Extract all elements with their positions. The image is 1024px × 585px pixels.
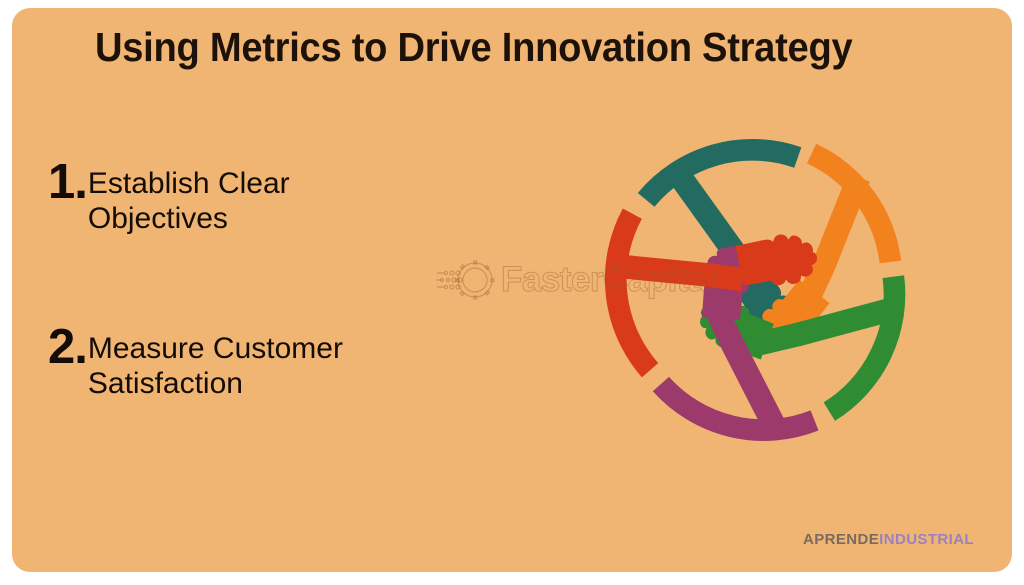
teamwork-wheel-illustration [590, 116, 915, 461]
list-item-label: Establish Clear Objectives [87, 158, 418, 237]
list-item-number: 2. [48, 323, 87, 370]
list-item: 2. Measure Customer Satisfaction [48, 323, 498, 402]
slide-canvas: Using Metrics to Drive Innovation Strate… [12, 8, 1012, 572]
list-item-label: Measure Customer Satisfaction [87, 323, 418, 402]
brand-logo: APRENDEINDUSTRIAL [803, 531, 974, 548]
brand-name-second: INDUSTRIAL [879, 531, 974, 548]
page-title: Using Metrics to Drive Innovation Strate… [95, 24, 858, 71]
numbered-points-list: 1. Establish Clear Objectives 2. Measure… [48, 158, 498, 488]
watermark-text-bold: Faster [501, 260, 603, 299]
brand-name-first: APRENDE [803, 531, 879, 548]
list-item: 1. Establish Clear Objectives [48, 158, 498, 237]
list-item-number: 1. [48, 158, 87, 205]
